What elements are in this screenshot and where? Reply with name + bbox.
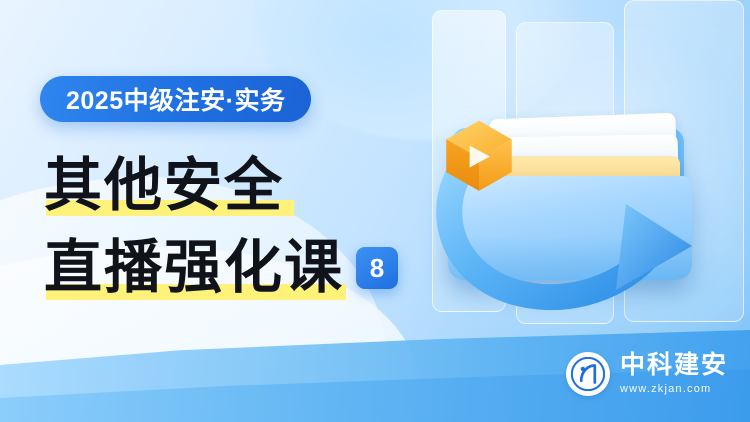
brand-logo: 中科建安 www.zkjan.com xyxy=(566,352,728,396)
brand-url: www.zkjan.com xyxy=(620,384,728,395)
headline-line-2: 直播强化课 8 xyxy=(44,232,464,304)
headline-text-1: 其他安全 xyxy=(44,157,284,215)
folder-illustration xyxy=(430,110,710,320)
headline-line-1: 其他安全 xyxy=(44,150,464,222)
headline-text-2: 直播强化课 xyxy=(44,239,344,297)
course-subject-tag: 2025中级注安·实务 xyxy=(40,76,311,122)
episode-number-badge: 8 xyxy=(356,247,398,289)
headline-block: 其他安全 直播强化课 8 xyxy=(44,150,464,304)
course-poster: 2025中级注安·实务 其他安全 直播强化课 8 中科建安 www.zkjan.… xyxy=(0,0,750,422)
brand-name: 中科建安 xyxy=(620,353,728,378)
brand-logo-icon xyxy=(566,352,610,396)
course-subject-tag-label: 2025中级注安·实务 xyxy=(66,81,285,117)
brand-logo-glyph xyxy=(571,357,605,391)
brand-logo-text: 中科建安 www.zkjan.com xyxy=(620,353,728,395)
